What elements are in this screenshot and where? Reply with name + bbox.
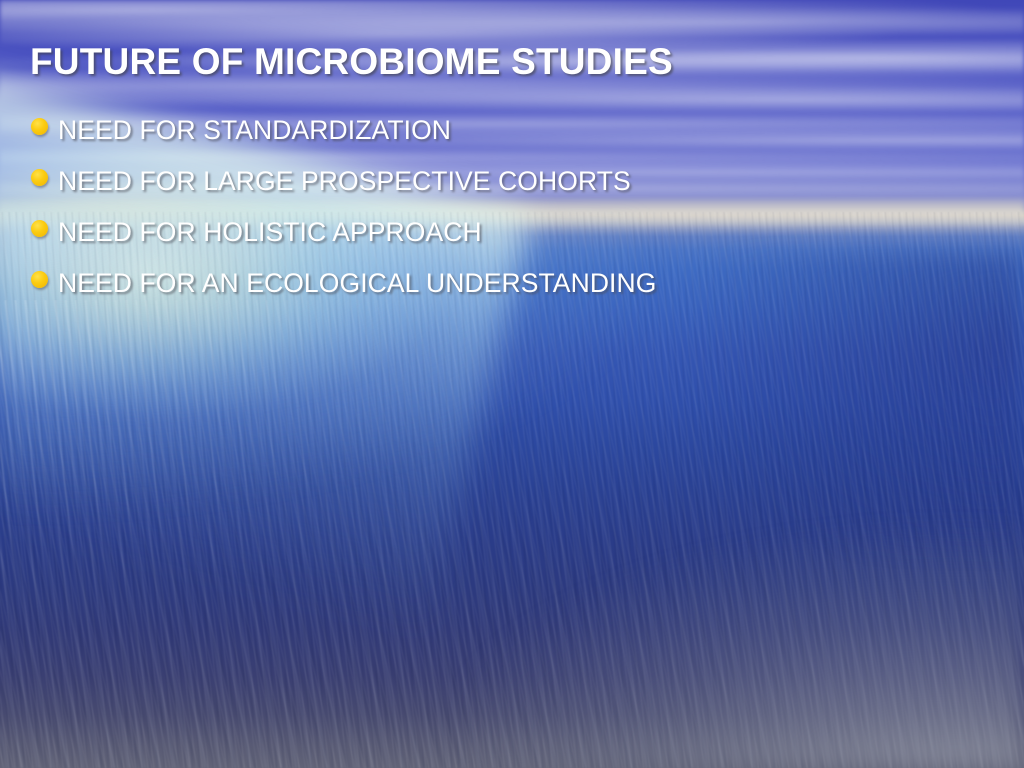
bullet-list: NEED FOR STANDARDIZATION NEED FOR LARGE … [30, 104, 990, 308]
bullet-item-label: NEED FOR AN ECOLOGICAL UNDERSTANDING [58, 268, 656, 298]
bullet-item-holistic-approach: NEED FOR HOLISTIC APPROACH [30, 206, 990, 257]
bullet-item-label: NEED FOR LARGE PROSPECTIVE COHORTS [58, 166, 631, 196]
slide-content: FUTURE OF MICROBIOME STUDIES NEED FOR ST… [0, 0, 1024, 768]
bullet-dot-icon [31, 169, 48, 186]
bullet-item-standardization: NEED FOR STANDARDIZATION [30, 104, 990, 155]
bullet-item-label: NEED FOR HOLISTIC APPROACH [58, 217, 482, 247]
bullet-dot-icon [31, 220, 48, 237]
bullet-dot-icon [31, 271, 48, 288]
bullet-item-ecological-understanding: NEED FOR AN ECOLOGICAL UNDERSTANDING [30, 257, 990, 308]
slide-title: FUTURE OF MICROBIOME STUDIES [30, 40, 673, 84]
presentation-slide: FUTURE OF MICROBIOME STUDIES NEED FOR ST… [0, 0, 1024, 768]
bullet-item-label: NEED FOR STANDARDIZATION [58, 115, 451, 145]
bullet-item-large-prospective-cohorts: NEED FOR LARGE PROSPECTIVE COHORTS [30, 155, 990, 206]
bullet-dot-icon [31, 118, 48, 135]
